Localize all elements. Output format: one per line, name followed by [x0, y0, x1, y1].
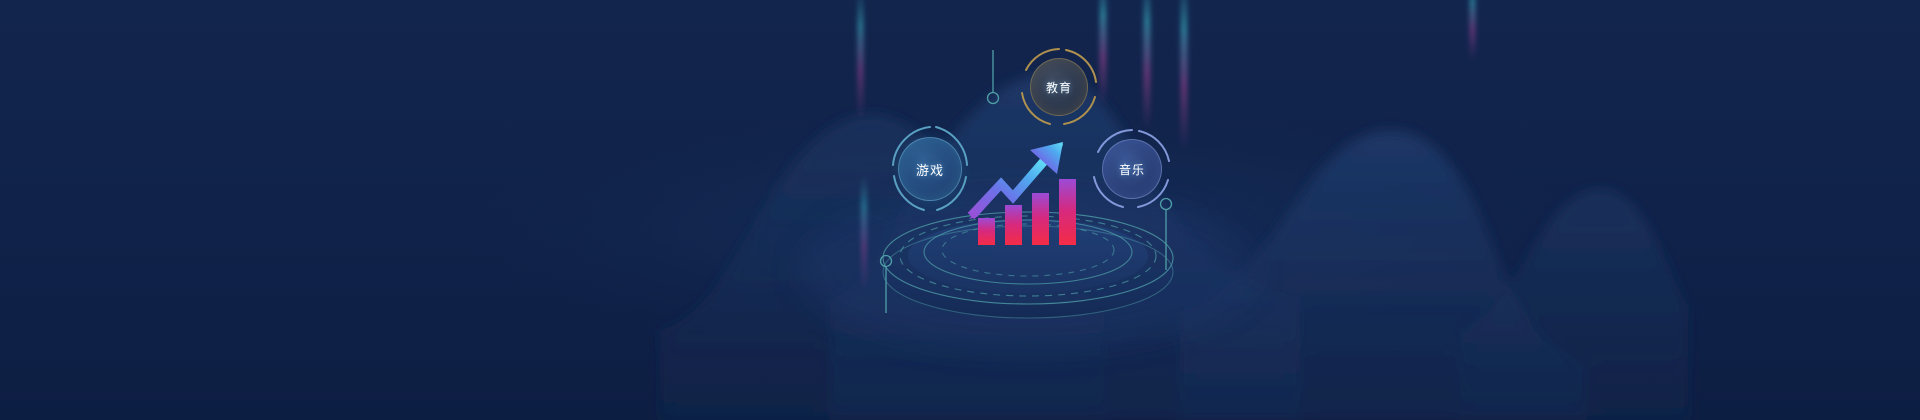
category-badge-education[interactable]: 教育	[1030, 58, 1088, 116]
decoration-layer	[0, 0, 1920, 420]
pin-right	[1161, 199, 1172, 271]
pin-left	[881, 256, 892, 314]
category-badge-education-label: 教育	[1046, 79, 1072, 96]
category-badge-music[interactable]: 音乐	[1102, 139, 1162, 199]
category-badge-game-label: 游戏	[916, 160, 944, 179]
category-badge-game[interactable]: 游戏	[898, 137, 962, 201]
category-badge-music-label: 音乐	[1119, 161, 1145, 178]
hero-banner-canvas: 游戏 教育 音乐	[0, 0, 1920, 420]
pin-top	[988, 50, 999, 104]
